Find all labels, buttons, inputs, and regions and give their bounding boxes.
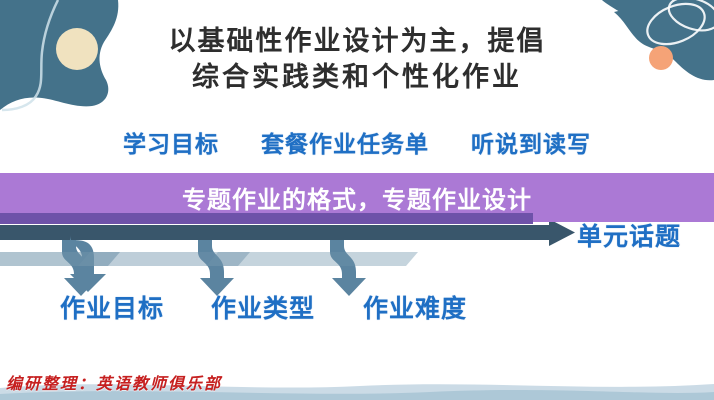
watermark-credit: 编研整理：英语教师俱乐部	[6, 374, 222, 394]
banner-title-text: 专题作业的格式，专题作业设计	[0, 173, 714, 222]
flow-shadow-bar-3	[206, 252, 418, 266]
flow-node-homework-difficulty: 作业难度	[363, 292, 467, 326]
slide-canvas: 以基础性作业设计为主，提倡 综合实践类和个性化作业 学习目标 套餐作业任务单 听…	[0, 0, 714, 400]
flow-node-labels: 作业目标 作业类型 作业难度	[0, 292, 714, 326]
flow-node-homework-type: 作业类型	[211, 292, 315, 326]
chip-listening-to-writing: 听说到读写	[471, 131, 591, 159]
headline-line-2: 综合实践类和个性化作业	[0, 60, 714, 96]
slide-headline: 以基础性作业设计为主，提倡 综合实践类和个性化作业	[0, 24, 714, 96]
flow-node-homework-goal: 作业目标	[60, 292, 164, 326]
flow-main-arrowhead	[549, 222, 575, 246]
headline-line-1: 以基础性作业设计为主，提倡	[0, 24, 714, 60]
flow-branch-3-stem	[330, 240, 366, 296]
flow-end-label: 单元话题	[577, 222, 681, 252]
chip-task-sheet: 套餐作业任务单	[261, 131, 429, 159]
flow-branch-2-stem	[198, 240, 234, 296]
flow-main-bar	[0, 225, 555, 240]
chip-row: 学习目标 套餐作业任务单 听说到读写	[0, 131, 714, 159]
chip-learning-goal: 学习目标	[123, 131, 219, 159]
